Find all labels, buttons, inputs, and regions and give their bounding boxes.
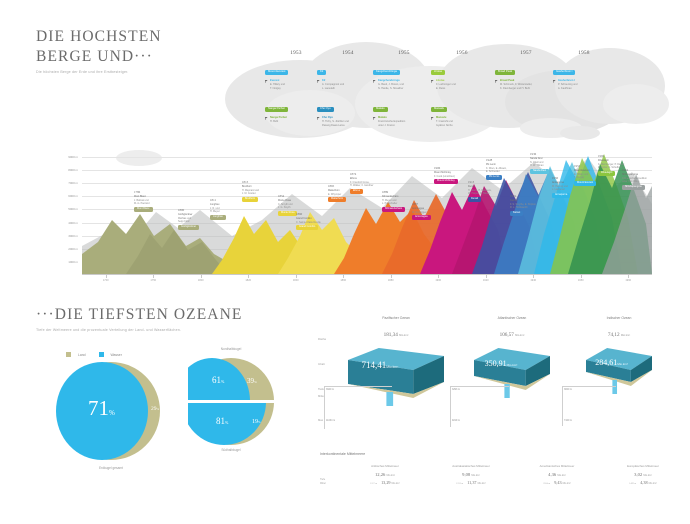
- annotation-year: 1936: [530, 152, 549, 156]
- page-title-line2: BERGE UND···: [36, 48, 162, 66]
- y-axis-tick: 9000 m: [44, 155, 78, 159]
- chart-annotation: 1800GroßglocknerMathias undSepp KlotzGro…: [178, 208, 199, 230]
- ocean-volume-block: [348, 346, 444, 406]
- entry-text: LhotseF. Luchsinger undE. Reiss: [431, 79, 493, 91]
- flag-icon: [495, 80, 498, 83]
- ocean-area: 106,57 Mio.km²: [462, 332, 562, 338]
- chart-annotation: 1928Pik LeninK. Wien, E. Allwein,E. Schn…: [486, 158, 507, 180]
- year-label: 1955: [373, 50, 435, 56]
- annotation-text: unter Hsü Ching: [622, 180, 647, 183]
- column-header: Arktisches Mittelmeer: [342, 464, 428, 468]
- legend-label-land: Land: [78, 353, 86, 357]
- ocean-depth-mean: 3840 m: [564, 388, 572, 391]
- column-area-value: 3,02: [634, 472, 642, 477]
- year-card: 1956LhotseLhotseF. Luchsinger undE. Reis…: [431, 50, 493, 133]
- peak-tag: Nanga Parbat: [265, 107, 288, 112]
- annotation-text: H. Walker, F. Gardiner: [350, 184, 373, 187]
- ocean-depth-mean: 3940 m: [326, 388, 334, 391]
- column-volume-unit: Mio.km³: [649, 483, 657, 485]
- x-axis-tick: 1880: [378, 279, 404, 282]
- mountain-silhouettes: [82, 150, 652, 274]
- ocean-title: Atlantischer Ozean: [467, 316, 557, 320]
- x-axis-tick: 1700: [93, 279, 119, 282]
- entry-text: Gasherbrum IP. Schoening undA. Kauffman: [553, 79, 615, 91]
- mountains-subtitle: Die höchsten Berge der Erde und ihre Ers…: [36, 70, 162, 74]
- depth-guide-line: [562, 386, 563, 426]
- ocean-area-value: 181,34: [384, 332, 398, 338]
- annotation-year: 1811: [210, 198, 226, 202]
- peak-tag: Makalu: [373, 107, 388, 112]
- chart-annotation: 1936Nanda DeviN. Odell undH. W. TilmanNa…: [530, 152, 549, 174]
- axis-label-inhalt: Inhalt: [318, 363, 325, 366]
- x-axis-tick: 1960: [615, 279, 641, 282]
- annotation-tag: Aconcagua: [412, 215, 431, 220]
- year-card: 1958Gasherbrum IGasherbrum IP. Schoening…: [553, 50, 615, 96]
- annotation-year: 1874: [350, 172, 373, 176]
- pie-south-half: [188, 403, 274, 445]
- ocean-area-value: 106,57: [500, 332, 514, 338]
- y-axis-tick: 1000 m: [44, 260, 78, 264]
- entry-text: ManasluT. Imanishi undGyalzen Norbu: [431, 116, 493, 128]
- annotation-text: M. Zurbriggen: [412, 211, 431, 214]
- flag-icon: [317, 80, 320, 83]
- annotation-year: 1860: [296, 212, 321, 216]
- pie-chart-hemispheres: Nordhalbkugel 61% 39% 81% 19% Südhalbkug…: [188, 358, 274, 444]
- mediterranean-seas-table: Interkontinentale Mittelmeere Tiefe Mitt…: [320, 452, 670, 465]
- annotation-year: 1786: [134, 190, 153, 194]
- entry-text: Broad PeakM. Schmuck, F. Wintersteller,K…: [495, 79, 557, 91]
- ocean-title: Pazifischer Ozean: [351, 316, 441, 320]
- annotation-text: E. Whymper: [328, 193, 346, 196]
- oceans-title: ···DIE TIEFSTEN OZEANE: [36, 306, 242, 324]
- ocean-volume-unit: Mio.km³: [617, 362, 628, 366]
- table-column: Australasiatisches Mittelmeer9,08 Mio.km…: [428, 464, 514, 485]
- year-label: 1956: [431, 50, 493, 56]
- year-entry: Broad PeakBroad PeakM. Schmuck, F. Winte…: [495, 59, 557, 91]
- annotation-text: L. Purtscheller: [382, 202, 405, 205]
- flag-icon: [317, 117, 320, 120]
- y-axis-tick: 5000 m: [44, 207, 78, 211]
- x-axis-tick: 1950: [568, 279, 594, 282]
- column-area-value: 4,36: [548, 472, 556, 477]
- annotation-text: E. Forrer, A. Schelbert: [598, 166, 625, 169]
- year-entry: Cho OyuCho OyuH. Tichy, S. Jiöchler undP…: [317, 96, 379, 128]
- x-axis-tick: 1900: [425, 279, 451, 282]
- annotation-tag: Dhaulagiri: [598, 171, 615, 176]
- year-card: 1954K2K2A. Compagnoni undL. LacedelliCho…: [317, 50, 379, 133]
- ocean-depth-max: 11034 m: [326, 419, 335, 422]
- cloud-shape-small: [560, 126, 600, 140]
- column-volume: 1429 m4,38 Mio.km³: [600, 480, 686, 485]
- annotation-tag: Kamet: [510, 211, 523, 216]
- annotation-tag: Pik Lenin: [486, 175, 502, 180]
- ocean-volume-block: [474, 346, 550, 398]
- ocean-depth-diagrams: Fläche Inhalt Tiefe Mittel Max Pazifisch…: [318, 316, 670, 446]
- entry-text: Cho OyuH. Tichy, S. Jiöchler undPasang D…: [317, 116, 379, 128]
- y-axis-tick: 3000 m: [44, 234, 78, 238]
- annotation-year: 1889: [382, 190, 405, 194]
- chart-annotation: 1865MatterhornE. WhymperMatterhorn: [328, 184, 346, 202]
- ocean-volume-unit: Mio.km³: [507, 363, 518, 367]
- column-volume-value: 9,43: [554, 480, 561, 485]
- annotation-year: 1813: [242, 180, 259, 184]
- depth-guide-line: [450, 386, 509, 387]
- year-entry: KangchendzöngaKangchendzöngaG. Band, J. …: [373, 59, 435, 91]
- entry-text: KangchendzöngaG. Band, J. Brown, undN. H…: [373, 79, 435, 91]
- infographic-page: DIE HOCHSTEN BERGE UND··· Die höchsten B…: [0, 0, 690, 524]
- x-axis-tick: 1820: [235, 279, 261, 282]
- year-entry: LhotseLhotseF. Luchsinger undE. Reiss: [431, 59, 493, 91]
- annotation-year: 1928: [486, 158, 507, 162]
- column-area-value: 12,26: [375, 472, 385, 477]
- annotation-tag: Shishapangma: [622, 185, 645, 190]
- annotation-text: F. Cook (umstritten): [434, 175, 458, 178]
- annotation-text: J. G. Smyth: [278, 206, 297, 209]
- column-depth: 2164 m: [543, 483, 550, 485]
- water-swatch-icon: [99, 352, 104, 357]
- flag-icon: [431, 117, 434, 120]
- year-entry: Gasherbrum IGasherbrum IP. Schoening und…: [553, 59, 615, 91]
- annotation-text: C. Sainte-Claire Deville: [296, 221, 321, 224]
- annotation-tag: Denali: [468, 197, 481, 202]
- column-volume: 1252 m11,37 Mio.km³: [428, 480, 514, 485]
- pie-chart-globe: 71% 29% Erdkugel gesamt: [62, 362, 160, 460]
- column-area: 9,08 Mio.km²: [428, 472, 514, 477]
- annotation-tag: Annapurna: [552, 193, 570, 198]
- depth-guide-line: [324, 386, 392, 387]
- column-volume-value: 4,38: [640, 480, 647, 485]
- annotation-text: H. W. Tilman: [530, 164, 549, 167]
- annotation-year: 1931: [510, 194, 537, 198]
- annotation-tag: Nanda Devi: [530, 169, 549, 174]
- entry-text: K2A. Compagnoni undL. Lacedelli: [317, 79, 379, 91]
- peak-tag: Kangchendzönga: [373, 70, 400, 75]
- chart-annotation: 1960DhaulagiriK. Diemberger, P. Diener,E…: [598, 154, 625, 176]
- column-depth: 1429 m: [629, 483, 636, 485]
- year-card: 1957Broad PeakBroad PeakM. Schmuck, F. W…: [495, 50, 557, 96]
- year-entry: MakaluMakaluFranzösische Expeditionunter…: [373, 96, 435, 128]
- legend-label-water: Wasser: [110, 353, 121, 357]
- annotation-tag: Elbrus: [350, 189, 363, 194]
- chart-annotation: 1964ShishapangmaChinesische Expeditionun…: [622, 168, 647, 190]
- mountain-svg: [82, 150, 652, 274]
- ocean-volume: 350,91Mio.km³: [485, 359, 518, 368]
- pie-label-north: Nordhalbkugel: [171, 347, 291, 351]
- chart-annotation: 1953Mount EverestE. Hillary undT. Norgay…: [574, 164, 596, 186]
- ocean-volume-unit: Mio.km³: [386, 365, 398, 369]
- depth-guide-line: [562, 386, 616, 387]
- column-area-unit: Mio.km²: [643, 474, 652, 477]
- peak-tag: Mount Everest: [265, 70, 288, 75]
- annotation-year: 1953: [574, 164, 596, 168]
- chart-annotation: 1950AnnapurnaM. Herzog undL. LachenalAnn…: [552, 176, 570, 198]
- annotation-tag: Mount McKinley: [434, 179, 458, 184]
- ocean-depth-max: 7440 m: [564, 419, 572, 422]
- annotation-tag: Mont Blanc: [134, 207, 153, 212]
- mountain-elevation-chart: 9000 m8000 m7000 m6000 m5000 m4000 m3000…: [44, 150, 652, 275]
- ocean-volume: 284,61Mio.km³: [595, 358, 628, 367]
- annotation-text: Sepp Klotz: [178, 220, 199, 223]
- pie-water-pct: 71%: [88, 396, 115, 421]
- year-entry: ManasluManasluT. Imanishi undGyalzen Nor…: [431, 96, 493, 128]
- x-axis-tick: 1800: [188, 279, 214, 282]
- column-area-unit: Mio.km²: [557, 474, 566, 477]
- flag-icon: [431, 80, 434, 83]
- annotation-year: 1960: [598, 154, 625, 158]
- depth-guide-line: [450, 386, 451, 427]
- column-volume-value: 11,37: [467, 480, 476, 485]
- column-header: Amerikanisches Mittelmeer: [514, 464, 600, 468]
- annotation-year: 1800: [178, 208, 199, 212]
- pie-south-land-pct: 19%: [252, 419, 261, 425]
- column-volume-unit: Mio.km³: [478, 483, 486, 485]
- y-axis-tick: 8000 m: [44, 168, 78, 172]
- chart-annotation: 1786Mont BlancJ. Balmat undM.-G. Paccard…: [134, 190, 153, 212]
- x-axis-tick: 1840: [283, 279, 309, 282]
- column-volume: 1117 m13,29 Mio.km³: [342, 480, 428, 485]
- ocean-area-unit: Mio.km²: [515, 334, 524, 337]
- ocean-title: Indischer Ozean: [574, 316, 664, 320]
- annotation-text: L. Lachenal: [552, 188, 570, 191]
- annotation-text: J. M. Couttet: [242, 192, 259, 195]
- flag-icon: [373, 80, 376, 83]
- axis-label-flaeche: Fläche: [318, 338, 326, 341]
- chart-annotation: 1854Monte RosaC. Smyth undJ. G. SmythMon…: [278, 194, 297, 216]
- column-area: 12,26 Mio.km²: [342, 472, 428, 477]
- pie-label-globe: Erdkugel gesamt: [51, 466, 171, 470]
- annotation-text: R. L. Holdsworth: [510, 206, 537, 209]
- column-volume-value: 13,29: [381, 480, 390, 485]
- year-label: 1957: [495, 50, 557, 56]
- table-column: Arktisches Mittelmeer12,26 Mio.km²1117 m…: [342, 464, 428, 485]
- flag-icon: [373, 117, 376, 120]
- annotation-year: 1950: [552, 176, 570, 180]
- table-column: Amerikanisches Mittelmeer4,36 Mio.km²216…: [514, 464, 600, 485]
- annotation-tag: Mount Everest: [574, 181, 596, 186]
- peak-tag: Broad Peak: [495, 70, 515, 75]
- year-label: 1954: [317, 50, 379, 56]
- column-depth: 1117 m: [370, 483, 377, 485]
- chart-annotation: 1913DenaliH. Stuck, H. Karstens,W. Harpe…: [468, 180, 492, 202]
- peak-tag: Lhotse: [431, 70, 445, 75]
- pie-north-half: [188, 358, 274, 400]
- column-area: 3,02 Mio.km²: [600, 472, 686, 477]
- chart-annotation: 1897AconcaguaM. ZurbriggenAconcagua: [412, 202, 431, 220]
- annotation-tag: Breithorn: [242, 197, 258, 202]
- x-axis-tick: 1940: [520, 279, 546, 282]
- oceans-heading-block: ···DIE TIEFSTEN OZEANE Tiefe der Weltmee…: [36, 306, 242, 332]
- chart-annotation: 1889KilimandscharoH. Meyer undL. Purtsch…: [382, 190, 405, 212]
- flag-icon: [265, 80, 268, 83]
- ocean-depth-max: 9219 m: [452, 419, 460, 422]
- annotation-tag: Großglockner: [178, 225, 199, 230]
- annotation-text: T. Norgay: [574, 176, 596, 179]
- chart-annotation: 1860Grand CombinC. Sainte-Claire Deville…: [296, 212, 321, 230]
- ocean-area-unit: Mio.km²: [621, 334, 630, 337]
- peak-tag: Cho Oyu: [317, 107, 334, 112]
- entry-text: MakaluFranzösische Expeditionunter J. Fr…: [373, 116, 435, 128]
- chart-x-axis: [82, 274, 652, 275]
- cloud-timeline: 1953Mount EverestEverestE. Hillary undT.…: [205, 36, 670, 146]
- axis-label-max: Max: [318, 419, 323, 422]
- column-area: 4,36 Mio.km²: [514, 472, 600, 477]
- y-axis-tick: 6000 m: [44, 194, 78, 198]
- column-header: Australasiatisches Mittelmeer: [428, 464, 514, 468]
- annotation-year: 1913: [468, 180, 492, 184]
- annotation-year: 1897: [412, 202, 431, 206]
- chart-annotation: 1813BreithornH. Maynard undJ. M. Couttet…: [242, 180, 259, 202]
- ocean-volume-value: 714,41: [361, 360, 386, 370]
- annotation-text: H. Meyer: [210, 210, 226, 213]
- annotation-tag: Grand Combin: [296, 225, 318, 230]
- ocean-depth-mean: 3293 m: [452, 388, 460, 391]
- column-area-unit: Mio.km²: [471, 474, 480, 477]
- chart-annotation: 1874ElbrusF. Crauford Grove,H. Walker, F…: [350, 172, 373, 194]
- flag-icon: [553, 80, 556, 83]
- pie-north-water-pct: 61%: [212, 375, 224, 385]
- table-row-label: Tiefe Mittel: [320, 478, 326, 485]
- annotation-tag: Matterhorn: [328, 197, 346, 202]
- x-axis-tick: 1750: [140, 279, 166, 282]
- pie-land-pct: 29%: [151, 406, 159, 412]
- year-card: 1955KangchendzöngaKangchendzöngaG. Band,…: [373, 50, 435, 133]
- y-axis-tick: 4000 m: [44, 221, 78, 225]
- ocean-area-unit: Mio.km²: [399, 334, 408, 337]
- ocean-volume-value: 284,61: [595, 358, 617, 367]
- column-area-value: 9,08: [462, 472, 470, 477]
- oceans-subtitle: Tiefe der Weltmeere und die prozentuale …: [36, 328, 242, 332]
- annotation-text: M.-G. Paccard: [134, 202, 153, 205]
- annotation-year: 1964: [622, 168, 647, 172]
- x-axis-tick: 1860: [330, 279, 356, 282]
- peak-tag: Manaslu: [431, 107, 447, 112]
- ocean-area-value: 74,12: [608, 332, 620, 338]
- column-volume-unit: Mio.km³: [563, 483, 571, 485]
- peak-tag: Gasherbrum I: [553, 70, 575, 75]
- pie-south-water-pct: 81%: [216, 416, 228, 426]
- annotation-text: E. Schneider: [486, 170, 507, 173]
- peak-tag: K2: [317, 70, 326, 75]
- ocean-volume: 714,41Mio.km³: [361, 360, 398, 370]
- annotation-tag: Kilimandscharo: [382, 207, 405, 212]
- column-depth: 1252 m: [456, 483, 463, 485]
- x-axis-tick: 1920: [473, 279, 499, 282]
- pie-label-south: Südhalbkugel: [171, 448, 291, 452]
- annotation-year: 1865: [328, 184, 346, 188]
- year-entry: K2K2A. Compagnoni undL. Lacedelli: [317, 59, 379, 91]
- table-column: Europäisches Mittelmeer3,02 Mio.km²1429 …: [600, 464, 686, 485]
- chart-annotation: 1811JungfrauJ. R. undH. MeyerJungfrau: [210, 198, 226, 220]
- axis-label-tiefe: Tiefe: [318, 388, 324, 391]
- page-title: DIE HOCHSTEN: [36, 28, 162, 46]
- column-volume: 2164 m9,43 Mio.km³: [514, 480, 600, 485]
- chart-annotation: 1931KametF. S. Smythe, E. Shipton,R. L. …: [510, 194, 537, 216]
- ocean-area: 74,12 Mio.km²: [569, 332, 669, 338]
- column-volume-unit: Mio.km³: [392, 483, 400, 485]
- table-title: Interkontinentale Mittelmeere: [320, 452, 670, 456]
- flag-icon: [265, 117, 268, 120]
- chart-annotation: 1906Mount McKinleyF. Cook (umstritten)Mo…: [434, 166, 458, 184]
- annotation-text: W. Harper, R. Tatum: [468, 192, 492, 195]
- column-area-unit: Mio.km²: [387, 474, 396, 477]
- column-header: Europäisches Mittelmeer: [600, 464, 686, 468]
- y-axis-tick: 7000 m: [44, 181, 78, 185]
- ocean-volume-value: 350,91: [485, 359, 507, 368]
- annotation-year: 1854: [278, 194, 297, 198]
- annotation-tag: Jungfrau: [210, 215, 226, 220]
- depth-guide-line: [324, 386, 325, 429]
- y-axis-tick: 2000 m: [44, 247, 78, 251]
- ocean-area: 181,34 Mio.km²: [346, 332, 446, 338]
- land-swatch-icon: [66, 352, 71, 357]
- annotation-year: 1906: [434, 166, 458, 170]
- mountains-heading-block: DIE HOCHSTEN BERGE UND··· Die höchsten B…: [36, 28, 162, 74]
- pie-north-land-pct: 39%: [247, 377, 257, 385]
- annotation-tag: Monte Rosa: [278, 211, 297, 216]
- year-label: 1958: [553, 50, 615, 56]
